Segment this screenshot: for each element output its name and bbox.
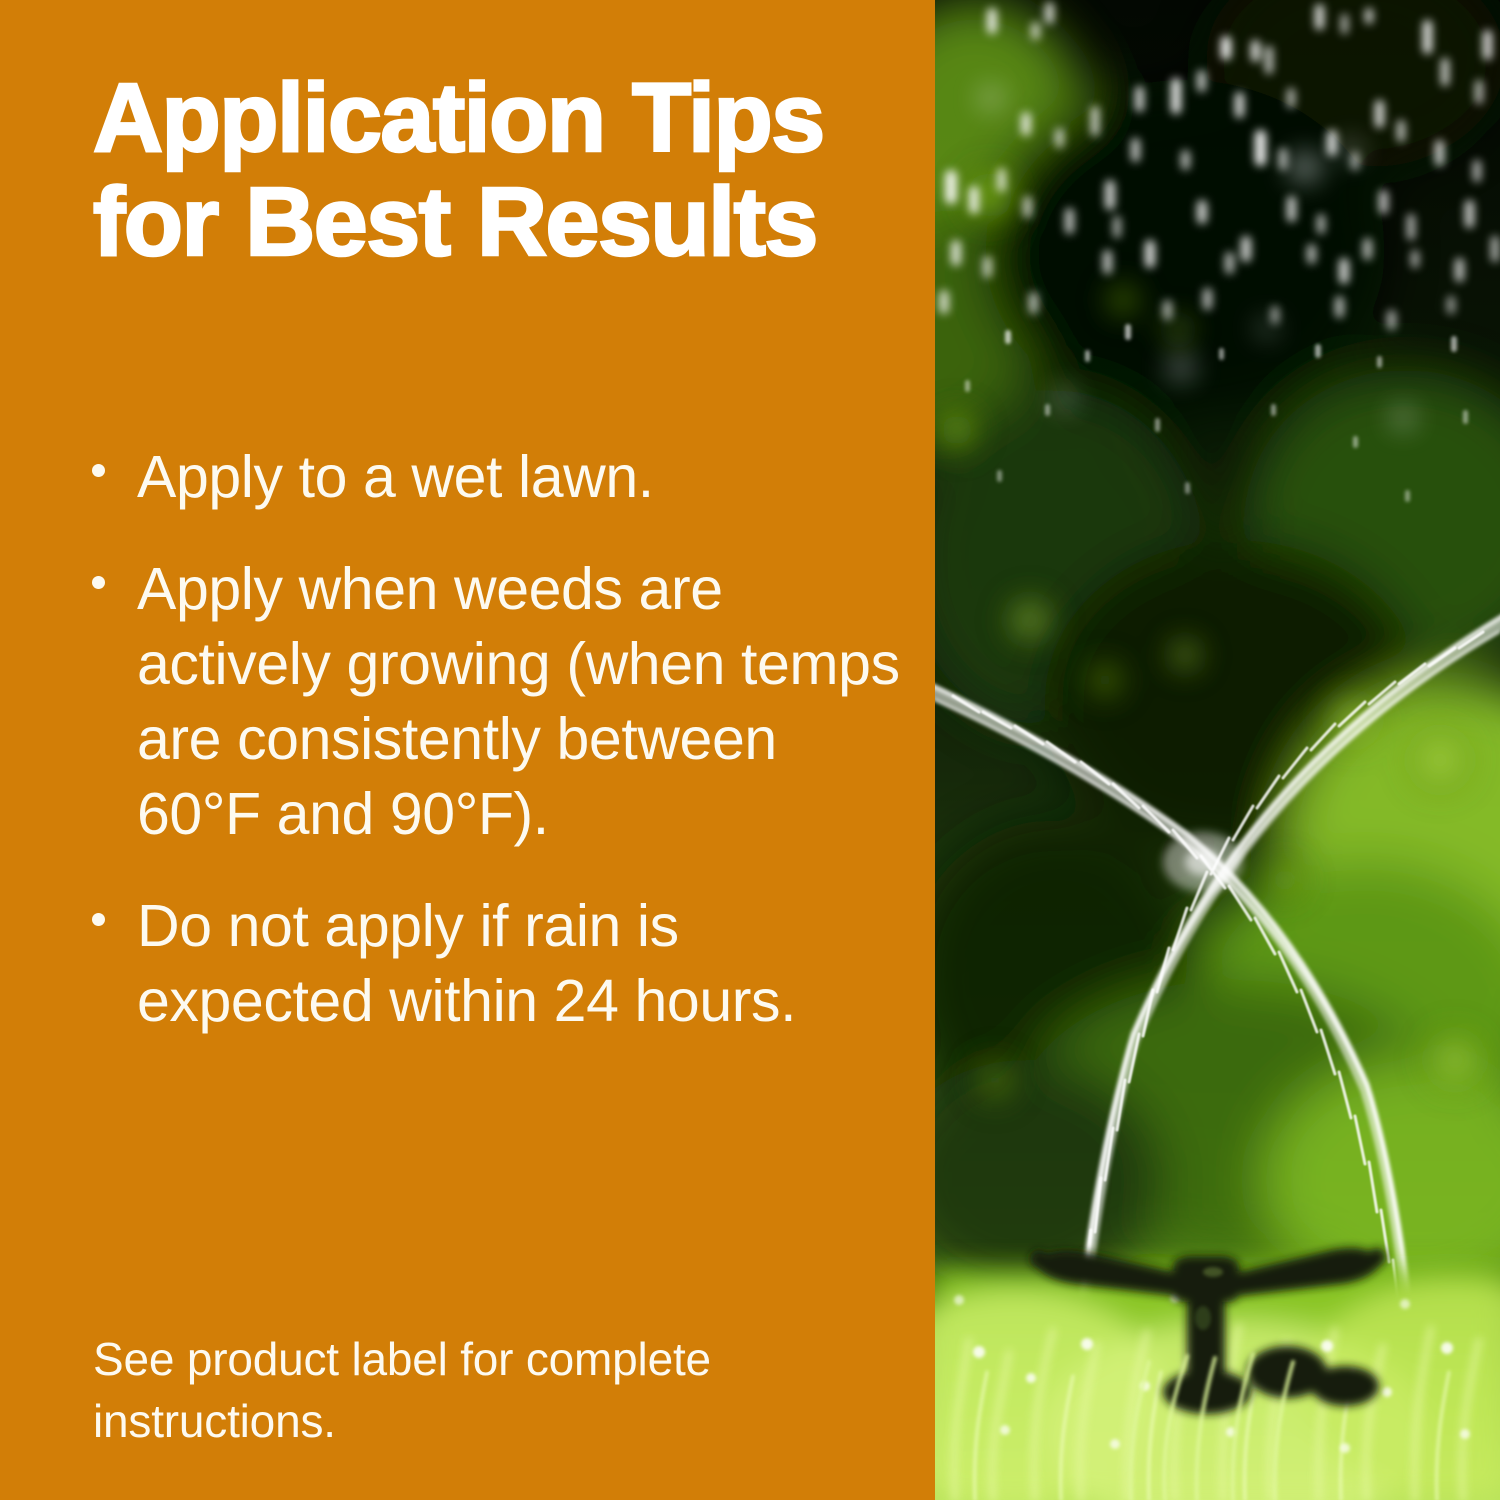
disclaimer-text: See product label for complete instructi… xyxy=(93,1328,813,1452)
tips-list: Apply to a wet lawn. Apply when weeds ar… xyxy=(85,440,905,1039)
list-item-label: Apply when weeds are actively growing (w… xyxy=(137,556,900,847)
dot-bullet-icon xyxy=(92,464,105,477)
sprinkler-photo-image xyxy=(935,0,1500,1500)
list-item-label: Do not apply if rain is expected within … xyxy=(137,893,796,1034)
sprinkler-photo xyxy=(935,0,1500,1500)
dot-bullet-icon xyxy=(92,576,105,589)
list-item-label: Apply to a wet lawn. xyxy=(137,444,654,510)
list-item: Apply to a wet lawn. xyxy=(85,440,905,515)
page-title: Application Tips for Best Results xyxy=(93,66,893,274)
list-item: Do not apply if rain is expected within … xyxy=(85,889,905,1039)
tips-panel: Application Tips for Best Results Apply … xyxy=(0,0,935,1500)
promo-graphic: Application Tips for Best Results Apply … xyxy=(0,0,1500,1500)
dot-bullet-icon xyxy=(92,913,105,926)
list-item: Apply when weeds are actively growing (w… xyxy=(85,552,905,852)
